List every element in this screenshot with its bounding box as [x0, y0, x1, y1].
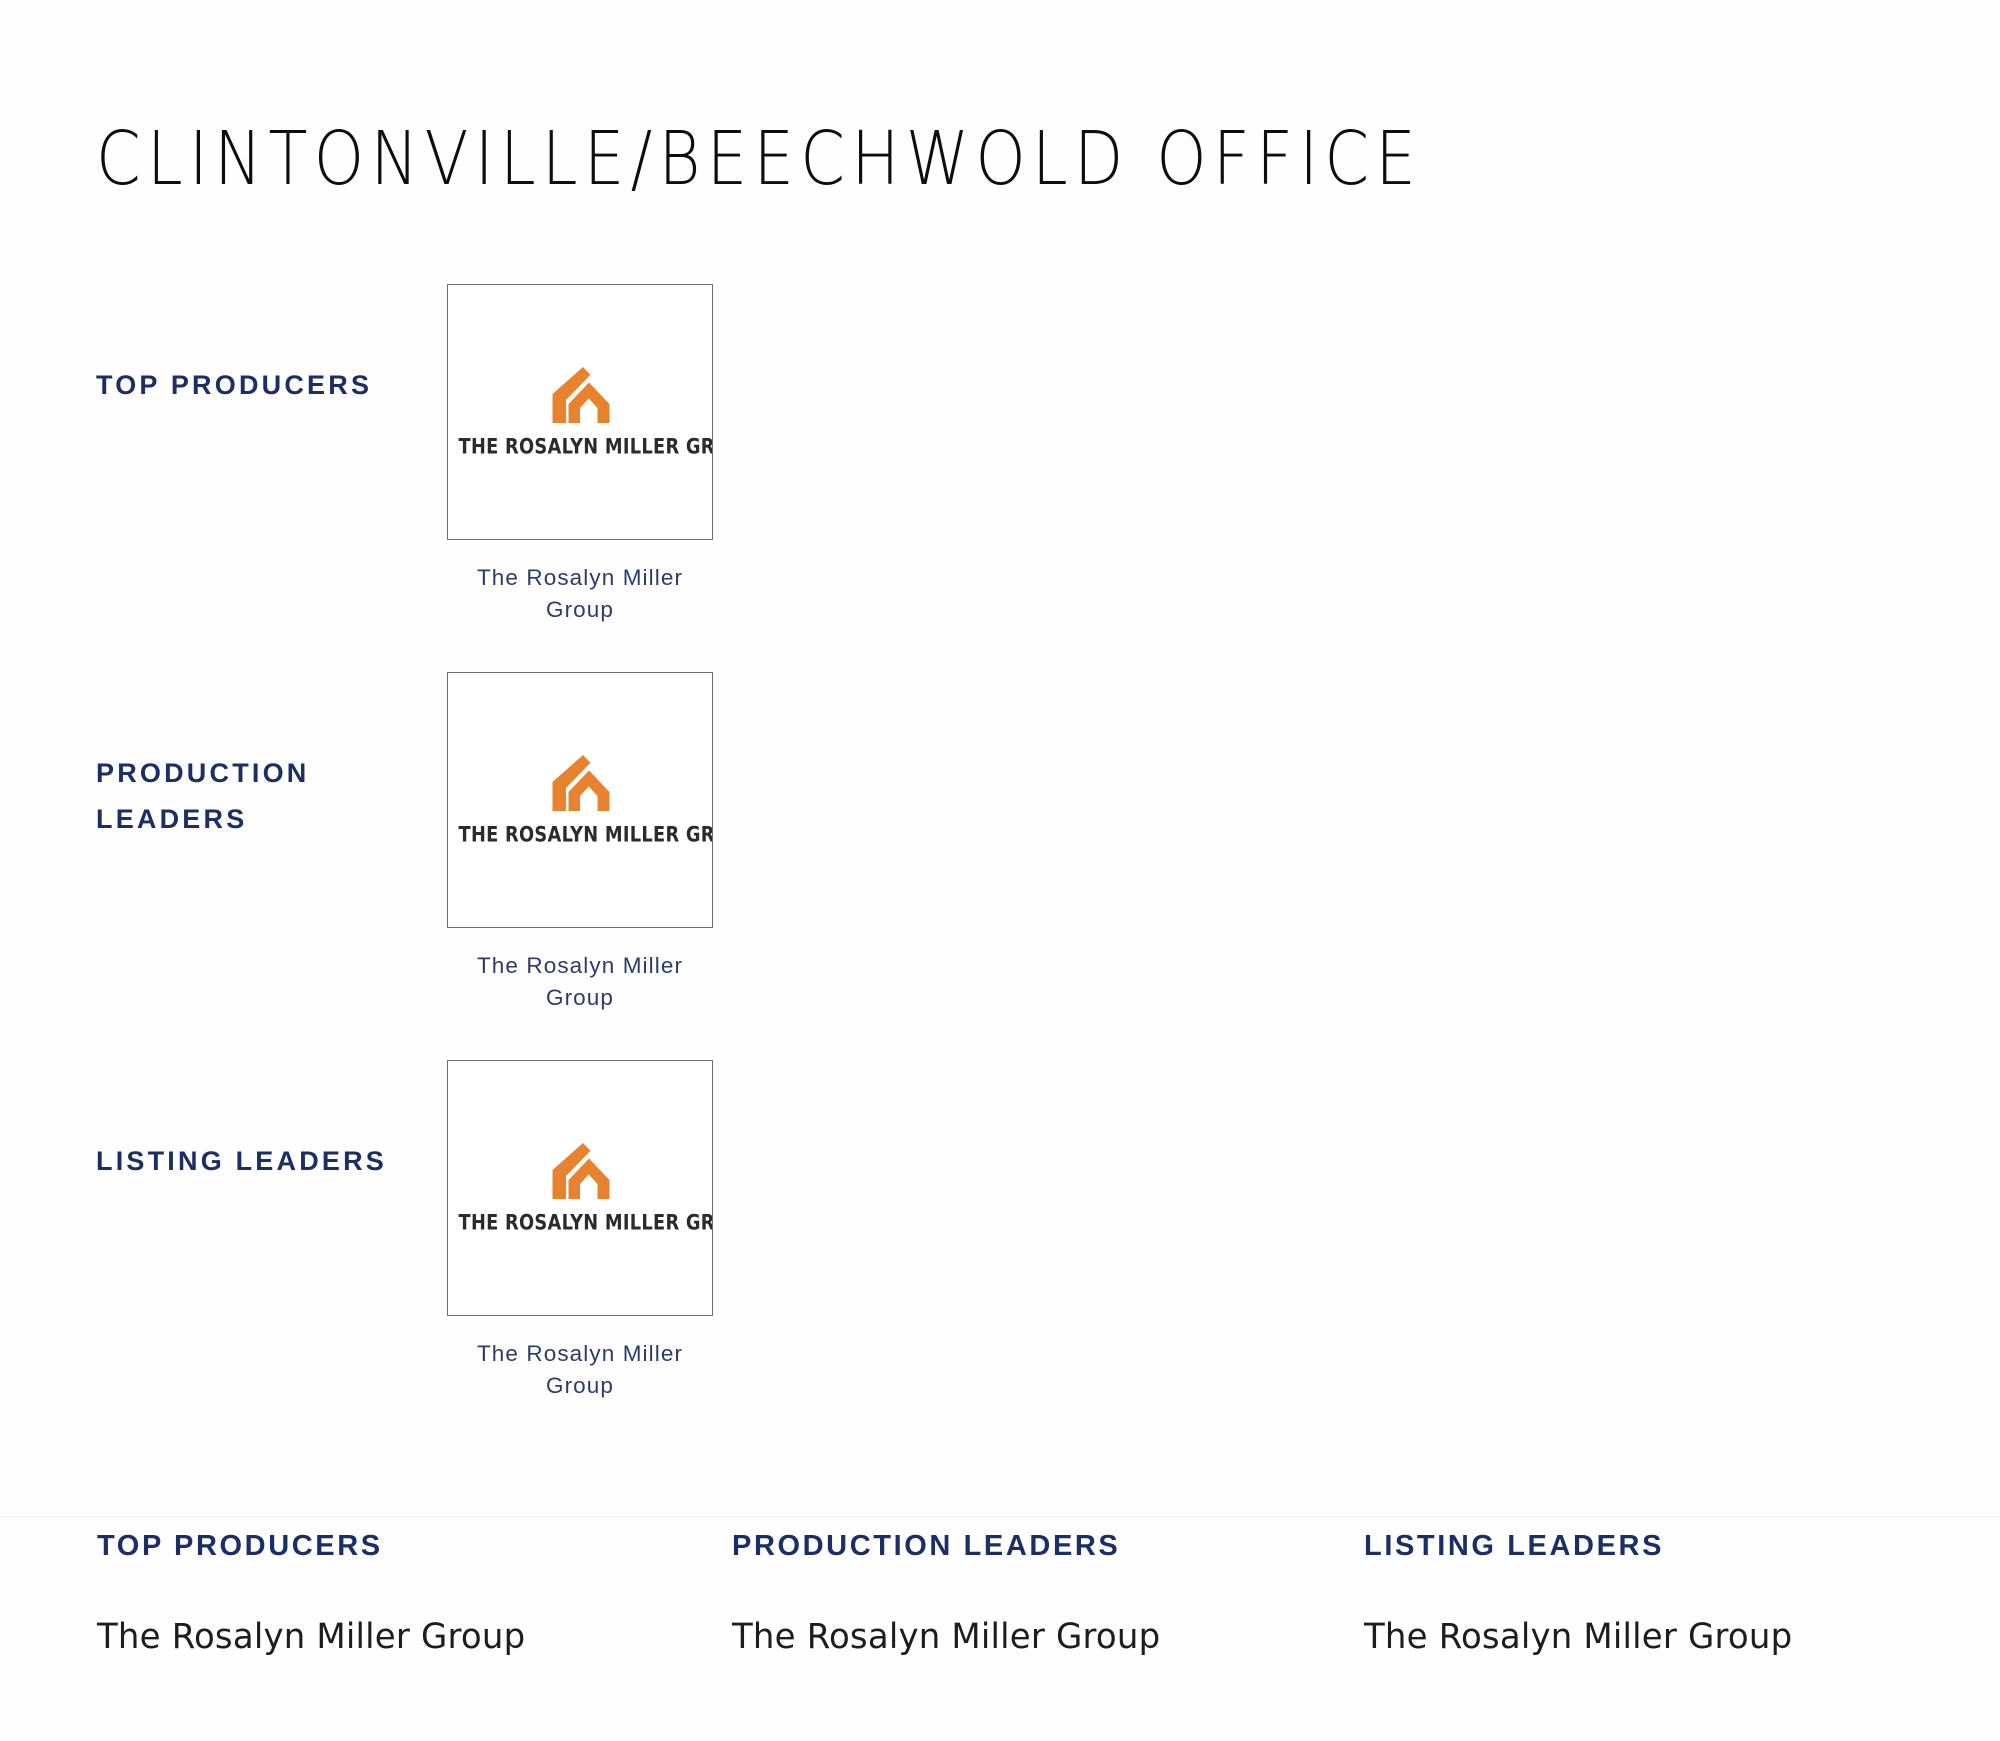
- award-row: PRODUCTION LEADERS THE ROSALYN MILLER GR…: [0, 650, 2000, 1038]
- logo-wordmark: THE ROSALYN MILLER GROUP: [459, 823, 702, 848]
- award-winner-card[interactable]: THE ROSALYN MILLER GROUP The Rosalyn Mil…: [447, 672, 719, 1014]
- summary-column-listing-leaders: LISTING LEADERS The Rosalyn Miller Group: [1270, 1530, 1910, 1657]
- summary-column-top-producers: TOP PRODUCERS The Rosalyn Miller Group: [0, 1530, 635, 1657]
- award-row: TOP PRODUCERS THE ROSALYN MILLER GROUP T…: [0, 262, 2000, 650]
- summary-winner-name: The Rosalyn Miller Group: [732, 1617, 1254, 1657]
- logo-inner: THE ROSALYN MILLER GROUP: [448, 753, 712, 848]
- award-category-label-top-producers: TOP PRODUCERS: [96, 362, 416, 408]
- orange-house-roof-mark-icon: [543, 1141, 617, 1205]
- section-divider: [0, 1516, 2000, 1517]
- summary-winner-name: The Rosalyn Miller Group: [97, 1617, 619, 1657]
- summary-columns: TOP PRODUCERS The Rosalyn Miller Group P…: [0, 1530, 2000, 1657]
- summary-winner-name: The Rosalyn Miller Group: [1364, 1617, 1894, 1657]
- orange-house-roof-mark-icon: [543, 753, 617, 817]
- awards-list: TOP PRODUCERS THE ROSALYN MILLER GROUP T…: [0, 262, 2000, 1426]
- award-winner-card[interactable]: THE ROSALYN MILLER GROUP The Rosalyn Mil…: [447, 1060, 719, 1402]
- page-title: CLINTONVILLE/BEECHWOLD OFFICE: [96, 120, 1422, 198]
- logo-inner: THE ROSALYN MILLER GROUP: [448, 1141, 712, 1236]
- logo-inner: THE ROSALYN MILLER GROUP: [448, 365, 712, 460]
- award-winner-caption: The Rosalyn Miller Group: [447, 562, 713, 626]
- orange-house-roof-mark-icon: [543, 365, 617, 429]
- logo-frame: THE ROSALYN MILLER GROUP: [447, 672, 713, 928]
- award-category-label-production-leaders: PRODUCTION LEADERS: [96, 750, 416, 843]
- office-awards-page: CLINTONVILLE/BEECHWOLD OFFICE TOP PRODUC…: [0, 0, 2000, 1741]
- award-category-label-listing-leaders: LISTING LEADERS: [96, 1138, 416, 1184]
- summary-heading: LISTING LEADERS: [1364, 1530, 1910, 1563]
- summary-heading: PRODUCTION LEADERS: [732, 1530, 1270, 1563]
- summary-heading: TOP PRODUCERS: [97, 1530, 635, 1563]
- logo-frame: THE ROSALYN MILLER GROUP: [447, 1060, 713, 1316]
- logo-wordmark: THE ROSALYN MILLER GROUP: [459, 435, 702, 460]
- award-winner-caption: The Rosalyn Miller Group: [447, 950, 713, 1014]
- award-winner-card[interactable]: THE ROSALYN MILLER GROUP The Rosalyn Mil…: [447, 284, 719, 626]
- logo-frame: THE ROSALYN MILLER GROUP: [447, 284, 713, 540]
- summary-column-production-leaders: PRODUCTION LEADERS The Rosalyn Miller Gr…: [635, 1530, 1270, 1657]
- logo-wordmark: THE ROSALYN MILLER GROUP: [459, 1211, 702, 1236]
- award-winner-caption: The Rosalyn Miller Group: [447, 1338, 713, 1402]
- award-row: LISTING LEADERS THE ROSALYN MILLER GROUP…: [0, 1038, 2000, 1426]
